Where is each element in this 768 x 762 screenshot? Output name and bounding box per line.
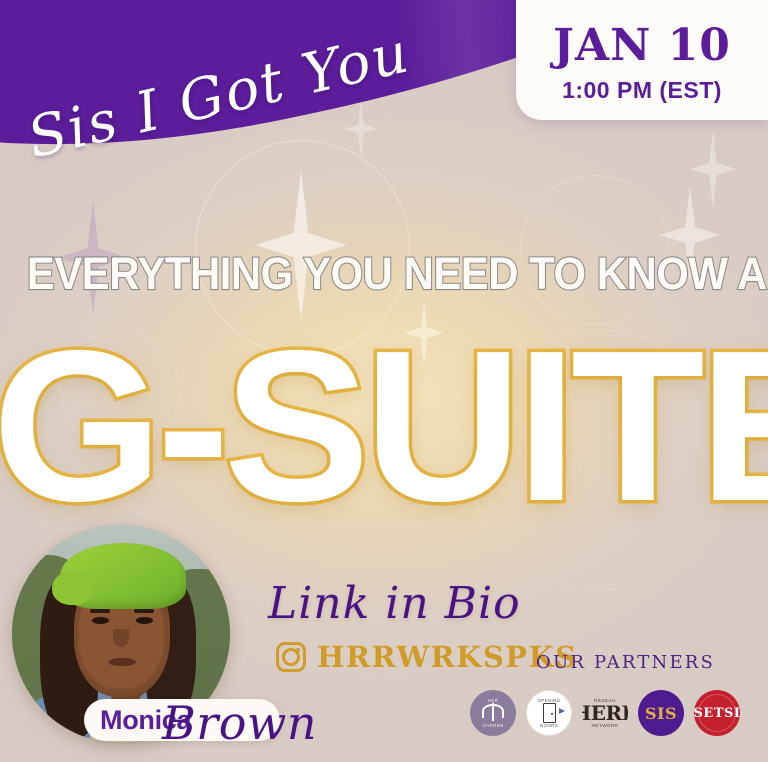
speaker-last-name: Brown [162,696,317,750]
partner-logo-main-text: SETSI [694,706,740,721]
partner-logo-main-text: SIS [645,704,677,723]
date-card: JAN 10 1:00 PM (EST) [516,0,768,120]
partner-logo-opening-doors: OPENING DOORS [526,690,572,736]
partner-logo-sis: SIS [638,690,684,736]
partner-logo-bottom-text: DOORS [540,723,558,728]
partner-logo-her-garden: HER GARDEN [470,690,516,736]
tree-icon [483,703,503,723]
partners-row: HER GARDEN OPENING DOORS RÉSEAU HERR NET… [470,690,740,736]
partner-logo-herr-network: RÉSEAU HERR NETWORK [582,690,628,736]
promo-poster: Sis I Got You JAN 10 1:00 PM (EST) EVERY… [0,0,768,762]
instagram-handle-row[interactable]: HRRWRKSPKS [276,640,578,674]
link-in-bio-text: Link in Bio [268,578,521,629]
headline-kicker: EVERYTHING YOU NEED TO KNOW ABOUT [27,251,741,296]
partner-logo-bottom-text: GARDEN [482,723,503,728]
partner-logo-setsi: SETSI [694,690,740,736]
door-icon [543,703,556,723]
instagram-icon [276,642,306,672]
page-title: G-SUITE [0,318,768,533]
partner-logo-main-text: HERR [582,703,628,723]
sparkle-icon [690,130,736,208]
partner-logo-bottom-text: NETWORK [592,723,619,728]
sparkle-icon [344,100,378,158]
event-date: JAN 10 [553,24,731,68]
event-time: 1:00 PM (EST) [562,77,722,104]
partners-heading: OUR PARTNERS [536,652,715,673]
arrow-icon [559,708,565,714]
